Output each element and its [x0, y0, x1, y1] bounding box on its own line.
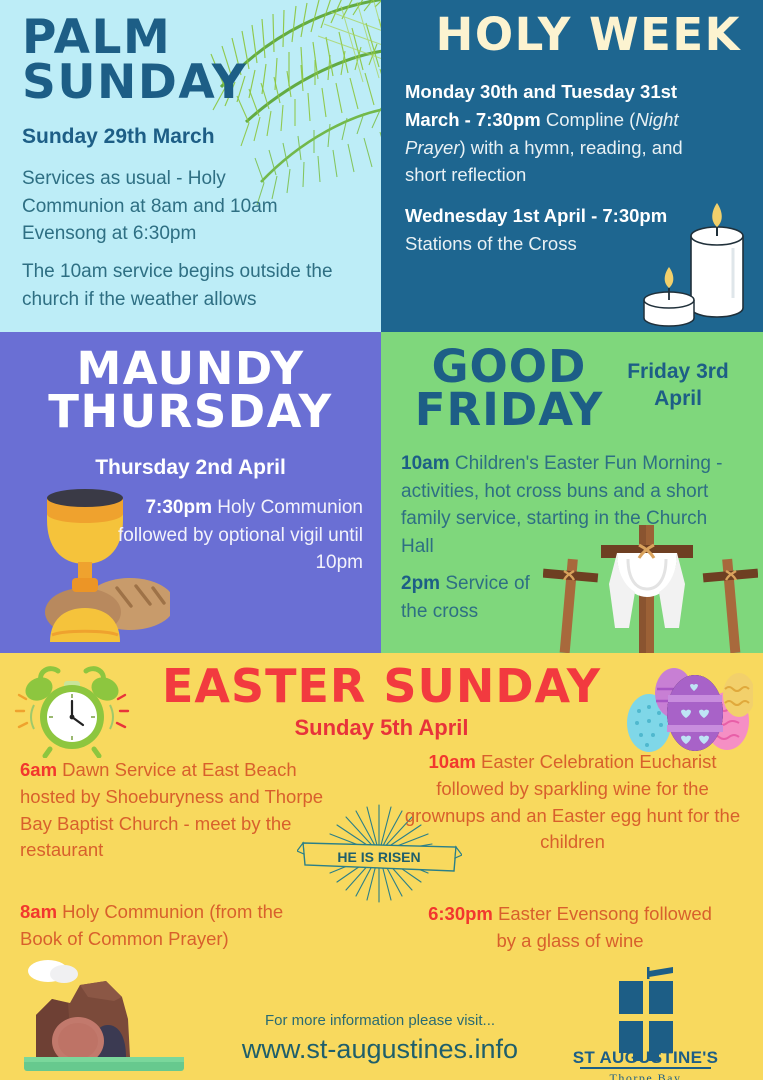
easter-entry-10am-label: 10am — [429, 751, 476, 772]
good-friday-entry-1-text: Children's Easter Fun Morning - activiti… — [401, 453, 723, 557]
organisation-name: ST AUGUSTINE'S — [558, 1048, 733, 1068]
holy-week-entry-2-text: Stations of the Cross — [405, 233, 577, 254]
panel-palm-sunday: PALM SUNDAY Sunday 29th March Services a… — [0, 0, 381, 332]
easter-entry-8am-text: Holy Communion (from the Book of Common … — [20, 901, 283, 949]
panel-title-holy-week: HOLY WEEK — [436, 14, 741, 57]
panel-holy-week: HOLY WEEK Monday 30th and Tuesday 31st M… — [381, 0, 763, 332]
easter-services-poster: PALM SUNDAY Sunday 29th March Services a… — [0, 0, 763, 1080]
easter-sunday-date: Sunday 5th April — [0, 715, 763, 741]
holy-week-entry-1-text: Compline ( — [541, 109, 636, 130]
empty-tomb-icon — [18, 953, 193, 1073]
footer-website-link[interactable]: www.st-augustines.info — [195, 1034, 565, 1065]
holy-week-entry-1: Monday 30th and Tuesday 31st March - 7:3… — [405, 78, 727, 189]
easter-entry-630pm-text: Easter Evensong followed by a glass of w… — [493, 903, 712, 951]
footer-prompt: For more information please visit... — [215, 1012, 545, 1029]
maundy-thursday-date: Thursday 2nd April — [0, 456, 381, 480]
panel-title-easter-sunday: EASTER SUNDAY — [0, 665, 763, 709]
good-friday-entry-1: 10am Children's Easter Fun Morning - act… — [401, 450, 731, 560]
easter-entry-6am-text: Dawn Service at East Beach hosted by Sho… — [20, 759, 323, 860]
maundy-thursday-entry-label: 7:30pm — [145, 497, 212, 518]
palm-sunday-paragraph-2: The 10am service begins outside the chur… — [22, 258, 352, 313]
good-friday-entry-1-label: 10am — [401, 453, 450, 474]
good-friday-entry-2: 2pm Service of the cross — [401, 570, 551, 625]
panel-title-good-friday: GOOD FRIDAY — [389, 346, 629, 432]
panel-maundy-thursday: MAUNDY THURSDAY Thursday 2nd April 7:30p… — [0, 332, 381, 653]
easter-entry-8am-label: 8am — [20, 901, 57, 922]
panel-good-friday: GOOD FRIDAY Friday 3rd April 10am Childr… — [381, 332, 763, 653]
easter-entry-6am: 6am Dawn Service at East Beach hosted by… — [20, 757, 340, 864]
palm-sunday-paragraph-1: Services as usual - Holy Communion at 8a… — [22, 165, 322, 248]
easter-entry-630pm-label: 6:30pm — [428, 903, 493, 924]
holy-week-entry-2: Wednesday 1st April - 7:30pmStations of … — [405, 202, 727, 258]
organisation-location: Thorpe Bay — [558, 1071, 733, 1080]
easter-entry-630pm: 6:30pm Easter Evensong followed by a gla… — [420, 901, 720, 955]
good-friday-entry-2-label: 2pm — [401, 573, 440, 594]
easter-entry-8am: 8am Holy Communion (from the Book of Com… — [20, 899, 320, 953]
palm-sunday-date: Sunday 29th March — [22, 125, 215, 149]
easter-entry-6am-label: 6am — [20, 759, 57, 780]
maundy-thursday-entry: 7:30pm Holy Communion followed by option… — [103, 494, 363, 577]
easter-entry-10am: 10am Easter Celebration Eucharist follow… — [400, 749, 745, 856]
holy-week-entry-2-label: Wednesday 1st April - 7:30pm — [405, 205, 667, 226]
panel-title-palm-sunday: PALM SUNDAY — [22, 16, 381, 105]
panel-title-maundy-thursday: MAUNDY THURSDAY — [0, 348, 381, 434]
good-friday-date: Friday 3rd April — [613, 358, 743, 413]
